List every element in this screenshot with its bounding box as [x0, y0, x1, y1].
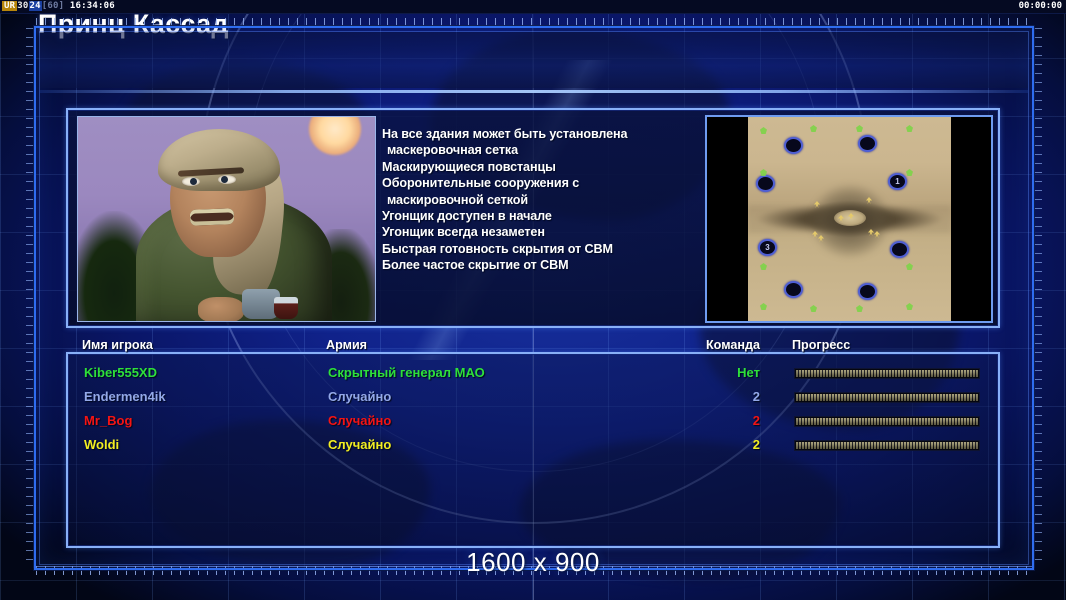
- hud-network-stats: UR3024[60] 16:34:06: [2, 0, 115, 13]
- player-army[interactable]: Случайно: [328, 413, 391, 428]
- description-line: маскировочной сеткой: [382, 192, 688, 208]
- player-progress-fill: [796, 370, 978, 377]
- map-supply-icon: [906, 169, 913, 176]
- player-army[interactable]: Случайно: [328, 389, 391, 404]
- hud-value-c: [60]: [42, 1, 64, 11]
- table-row[interactable]: Endermen4ikСлучайно2: [68, 386, 1002, 410]
- player-army[interactable]: Случайно: [328, 437, 391, 452]
- table-row[interactable]: Kiber555XDСкрытный генерал МАОНет: [68, 362, 1002, 386]
- map-supply-icon: [856, 305, 863, 312]
- player-progress-fill: [796, 394, 978, 401]
- player-name[interactable]: Mr_Bog: [84, 413, 132, 428]
- portrait-hand: [198, 297, 244, 322]
- player-team[interactable]: 2: [708, 437, 760, 452]
- map-start-position: [858, 283, 877, 300]
- hud-value-a: 30: [17, 1, 28, 11]
- column-header-name: Имя игрока: [82, 338, 153, 352]
- column-header-team: Команда: [706, 338, 760, 352]
- player-table-header: Имя игрока Армия Команда Прогресс: [66, 338, 1000, 354]
- map-start-position: [756, 175, 775, 192]
- general-portrait: [77, 116, 376, 322]
- map-supply-icon: [810, 125, 817, 132]
- player-progress-fill: [796, 418, 978, 425]
- player-progress-bar: [794, 368, 980, 379]
- map-supply-icon: [760, 263, 767, 270]
- description-line: Маскирующиеся повстанцы: [382, 159, 688, 175]
- description-line: Угонщик всегда незаметен: [382, 224, 688, 240]
- player-progress-bar: [794, 392, 980, 403]
- description-line: На все здания может быть установлена: [382, 126, 688, 142]
- player-name[interactable]: Endermen4ik: [84, 389, 166, 404]
- general-info-panel: На все здания может быть установленамаск…: [66, 108, 1000, 328]
- title-underline: [40, 90, 1028, 93]
- map-start-position: [858, 135, 877, 152]
- title-bar: [40, 32, 1028, 88]
- ruler-left: [26, 28, 34, 568]
- description-line: Оборонительные сооружения с: [382, 175, 688, 191]
- player-team[interactable]: 2: [708, 413, 760, 428]
- map-supply-icon: [906, 125, 913, 132]
- portrait-tea-glass: [274, 297, 298, 319]
- table-row[interactable]: WoldiСлучайно2: [68, 434, 1002, 458]
- hud-top-bar: UR3024[60] 16:34:06 00:00:00: [0, 0, 1066, 14]
- map-supply-icon: [760, 303, 767, 310]
- player-team[interactable]: 2: [708, 389, 760, 404]
- player-progress-bar: [794, 440, 980, 451]
- description-line: Угонщик доступен в начале: [382, 208, 688, 224]
- portrait-sun: [309, 116, 361, 155]
- general-description: На все здания может быть установленамаск…: [382, 126, 688, 274]
- player-team[interactable]: Нет: [708, 365, 760, 380]
- map-supply-icon: [760, 127, 767, 134]
- map-supply-icon: [906, 263, 913, 270]
- map-preview[interactable]: 13: [705, 115, 993, 323]
- game-lobby-screen: UR3024[60] 16:34:06 00:00:00 Принц Касса…: [0, 0, 1066, 600]
- player-progress-fill: [796, 442, 978, 449]
- hud-clock: 16:34:06: [70, 1, 115, 11]
- description-line: Более частое скрытие от СВМ: [382, 257, 688, 273]
- map-start-position: 3: [758, 239, 777, 256]
- map-supply-icon: [856, 125, 863, 132]
- portrait-mouth: [190, 208, 235, 226]
- player-army[interactable]: Скрытный генерал МАО: [328, 365, 485, 380]
- portrait-pupil-right: [221, 176, 228, 183]
- map-terrain: 13: [748, 117, 951, 321]
- player-progress-bar: [794, 416, 980, 427]
- map-start-position: [784, 281, 803, 298]
- portrait-pupil-left: [190, 178, 197, 185]
- hud-label-ur: UR: [2, 1, 17, 11]
- player-list-panel: Kiber555XDСкрытный генерал МАОНетEnderme…: [66, 352, 1000, 548]
- map-start-position: 1: [888, 173, 907, 190]
- map-supply-icon: [810, 305, 817, 312]
- ruler-right: [1034, 28, 1042, 568]
- map-supply-icon: [906, 303, 913, 310]
- column-header-progress: Прогресс: [792, 338, 850, 352]
- table-row[interactable]: Mr_BogСлучайно2: [68, 410, 1002, 434]
- hud-value-b: 24: [29, 1, 42, 11]
- description-line: Быстрая готовность скрытия от СВМ: [382, 241, 688, 257]
- player-name[interactable]: Woldi: [84, 437, 119, 452]
- description-line: маскеровочная сетка: [382, 142, 688, 158]
- map-start-position: [890, 241, 909, 258]
- column-header-army: Армия: [326, 338, 367, 352]
- map-start-position: [784, 137, 803, 154]
- resolution-label: 1600 x 900: [0, 547, 1066, 578]
- hud-session-timer: 00:00:00: [1019, 0, 1062, 13]
- player-name[interactable]: Kiber555XD: [84, 365, 157, 380]
